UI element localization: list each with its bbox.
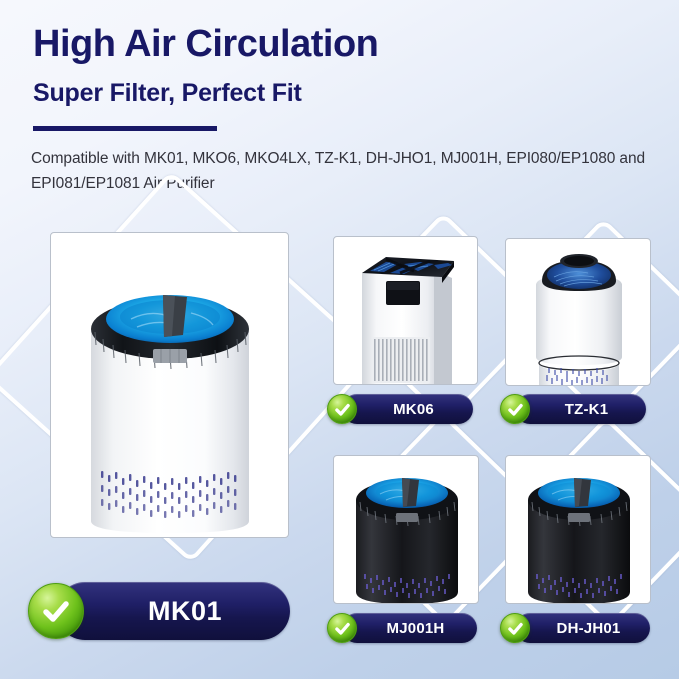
dhjh01-illustration bbox=[506, 456, 651, 604]
product-photo-mk01[interactable] bbox=[50, 232, 289, 538]
page-title: High Air Circulation bbox=[33, 25, 378, 63]
model-badge-label: MK01 bbox=[56, 582, 290, 640]
header-section: High Air Circulation Super Filter, Perfe… bbox=[0, 0, 679, 205]
model-badge-label: DH-JH01 bbox=[515, 613, 650, 643]
model-badge-mk06[interactable]: MK06 bbox=[327, 394, 473, 424]
mk06-illustration bbox=[334, 237, 478, 385]
model-badge-label: MK06 bbox=[342, 394, 473, 424]
model-badge-dhjh01[interactable]: DH-JH01 bbox=[500, 613, 650, 643]
check-circle-green-icon bbox=[28, 583, 84, 639]
check-circle-green-icon bbox=[500, 613, 530, 643]
model-badge-label: TZ-K1 bbox=[515, 394, 646, 424]
page-subtitle: Super Filter, Perfect Fit bbox=[33, 81, 302, 106]
product-photo-mk06[interactable] bbox=[333, 236, 478, 385]
model-badge-mk01[interactable]: MK01 bbox=[28, 582, 290, 640]
model-badge-mj001h[interactable]: MJ001H bbox=[327, 613, 477, 643]
product-photo-tzk1[interactable] bbox=[505, 238, 651, 386]
compatibility-text: Compatible with MK01, MKO6, MKO4LX, TZ-K… bbox=[31, 146, 651, 196]
check-circle-green-icon bbox=[500, 394, 530, 424]
tzk1-illustration bbox=[506, 239, 651, 386]
mk01-illustration bbox=[51, 233, 289, 538]
check-circle-green-icon bbox=[327, 394, 357, 424]
model-badge-tzk1[interactable]: TZ-K1 bbox=[500, 394, 646, 424]
check-circle-green-icon bbox=[327, 613, 357, 643]
title-divider bbox=[33, 126, 217, 131]
model-badge-label: MJ001H bbox=[342, 613, 477, 643]
product-photo-mj001h[interactable] bbox=[333, 455, 479, 604]
product-photo-dhjh01[interactable] bbox=[505, 455, 651, 604]
mj001h-illustration bbox=[334, 456, 479, 604]
